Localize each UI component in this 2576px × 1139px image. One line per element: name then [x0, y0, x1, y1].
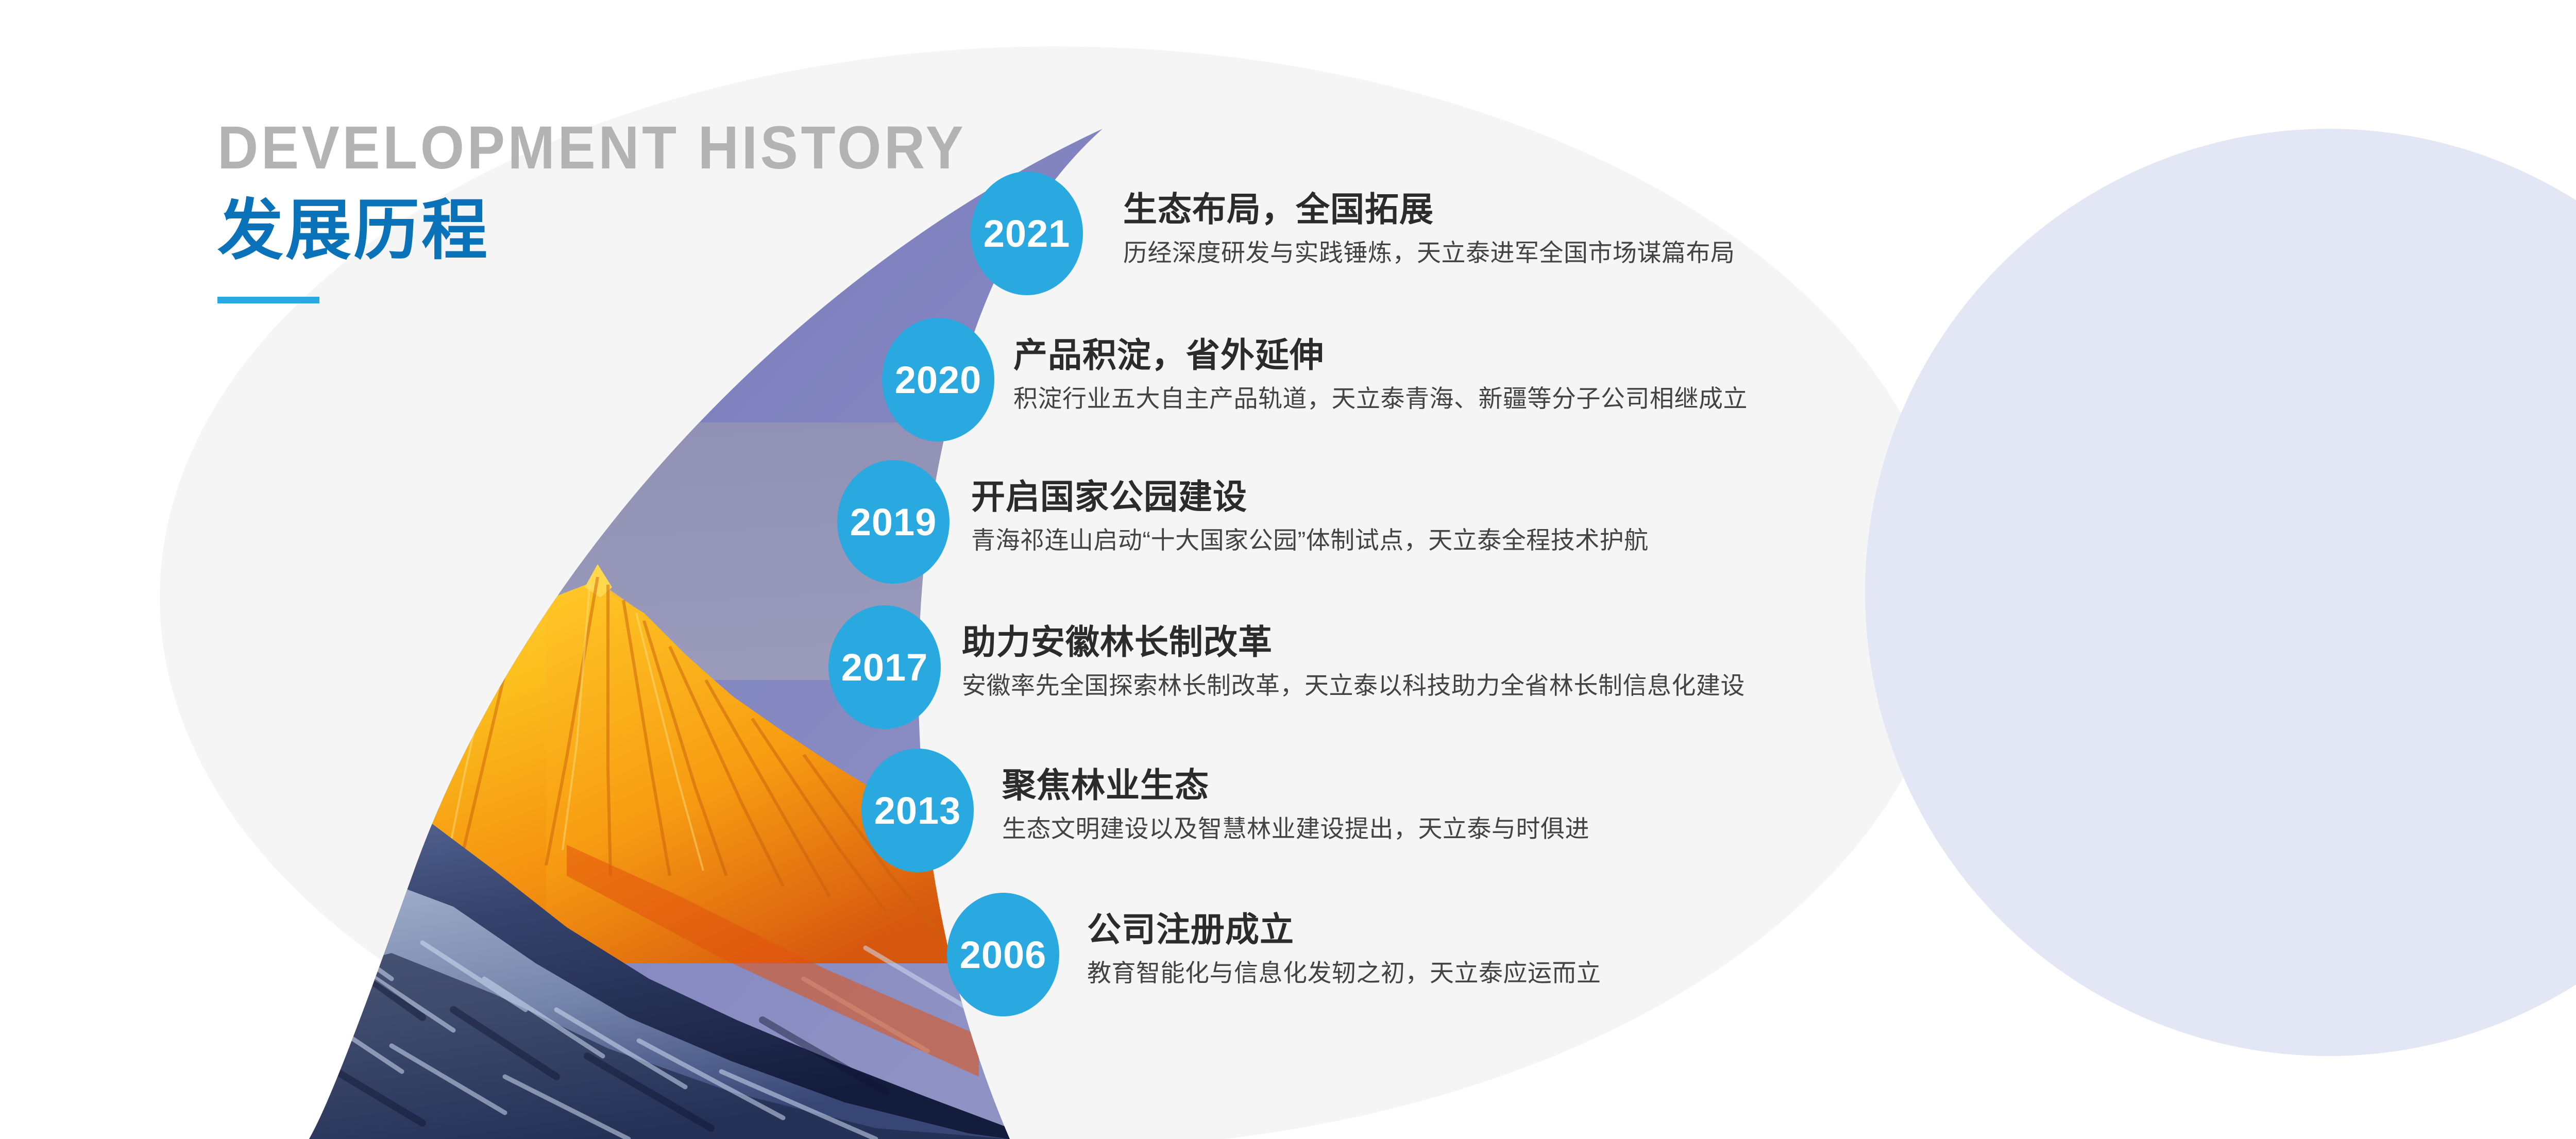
year-badge[interactable]: 2021 — [971, 172, 1083, 295]
timeline-item-description: 教育智能化与信息化发轫之初，天立泰应运而立 — [1087, 960, 1601, 987]
timeline-item-title: 公司注册成立 — [1087, 912, 1601, 947]
slide-canvas: DEVELOPMENT HISTORY 发展历程 2021 生态布局，全国拓展 … — [0, 0, 2576, 1139]
timeline-item-description: 积淀行业五大自主产品轨道，天立泰青海、新疆等分子公司相继成立 — [1013, 385, 1748, 412]
year-badge[interactable]: 2019 — [837, 460, 950, 584]
timeline-item-title: 助力安徽林长制改革 — [962, 624, 1745, 660]
timeline-item-title: 聚焦林业生态 — [1002, 768, 1589, 803]
year-badge[interactable]: 2020 — [882, 318, 994, 441]
timeline-item-title: 开启国家公园建设 — [971, 479, 1649, 515]
vertical-slogan: 立天地诺泰山 共赢科技未来 — [2076, 273, 2576, 761]
timeline-item-description: 青海祁连山启动“十大国家公园”体制试点，天立泰全程技术护航 — [971, 527, 1649, 554]
timeline-item-description: 历经深度研发与实践锤炼，天立泰进军全国市场谋篇布局 — [1123, 240, 1735, 266]
year-badge[interactable]: 2017 — [828, 605, 941, 729]
year-badge[interactable]: 2013 — [861, 749, 974, 872]
timeline-item-description: 生态文明建设以及智慧林业建设提出，天立泰与时俱进 — [1002, 815, 1589, 842]
timeline-item-title: 产品积淀，省外延伸 — [1013, 337, 1748, 373]
timeline-item-description: 安徽率先全国探索林长制改革，天立泰以科技助力全省林长制信息化建设 — [962, 672, 1745, 699]
timeline-item-title: 生态布局，全国拓展 — [1123, 192, 1735, 227]
year-badge[interactable]: 2006 — [947, 893, 1059, 1016]
